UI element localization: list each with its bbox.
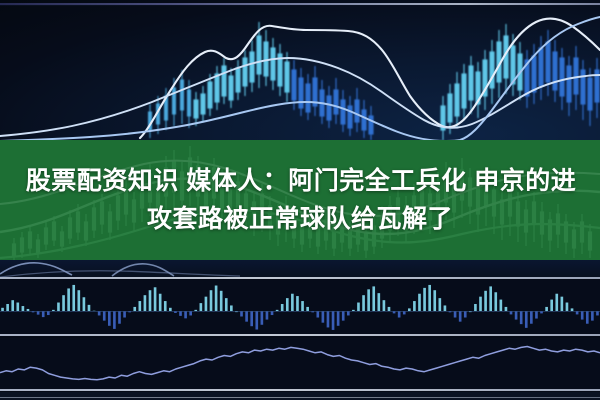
thumbnail-canvas: 股票配资知识 媒体人：阿门完全工兵化 申京的进 攻套路被正常球队给瓦解了 bbox=[0, 0, 600, 400]
transition-strip bbox=[0, 260, 600, 278]
price-chart-panel bbox=[0, 0, 600, 142]
histogram-svg bbox=[0, 280, 600, 334]
histogram-bars bbox=[0, 285, 600, 330]
headline-line-1: 股票配资知识 媒体人：阿门完全工兵化 申京的进 bbox=[24, 164, 576, 198]
indicator-line-path bbox=[0, 347, 600, 380]
histogram-panel bbox=[0, 280, 600, 334]
panel-separator-3 bbox=[0, 389, 600, 391]
headline-banner: 股票配资知识 媒体人：阿门完全工兵化 申京的进 攻套路被正常球队给瓦解了 bbox=[0, 140, 600, 260]
panel-separator-1 bbox=[0, 277, 600, 279]
indicator-line-panel bbox=[0, 338, 600, 390]
indicator-line-svg bbox=[0, 338, 600, 390]
panel-separator-2 bbox=[0, 334, 600, 336]
headline-text: 股票配资知识 媒体人：阿门完全工兵化 申京的进 攻套路被正常球队给瓦解了 bbox=[0, 140, 600, 260]
footer-strip bbox=[0, 392, 600, 400]
panel-separator-4 bbox=[0, 397, 600, 398]
headline-line-2: 攻套路被正常球队给瓦解了 bbox=[147, 202, 453, 236]
transition-strip-svg bbox=[0, 260, 600, 278]
top-shadow-rule bbox=[0, 5, 600, 6]
price-chart-svg bbox=[0, 0, 600, 142]
